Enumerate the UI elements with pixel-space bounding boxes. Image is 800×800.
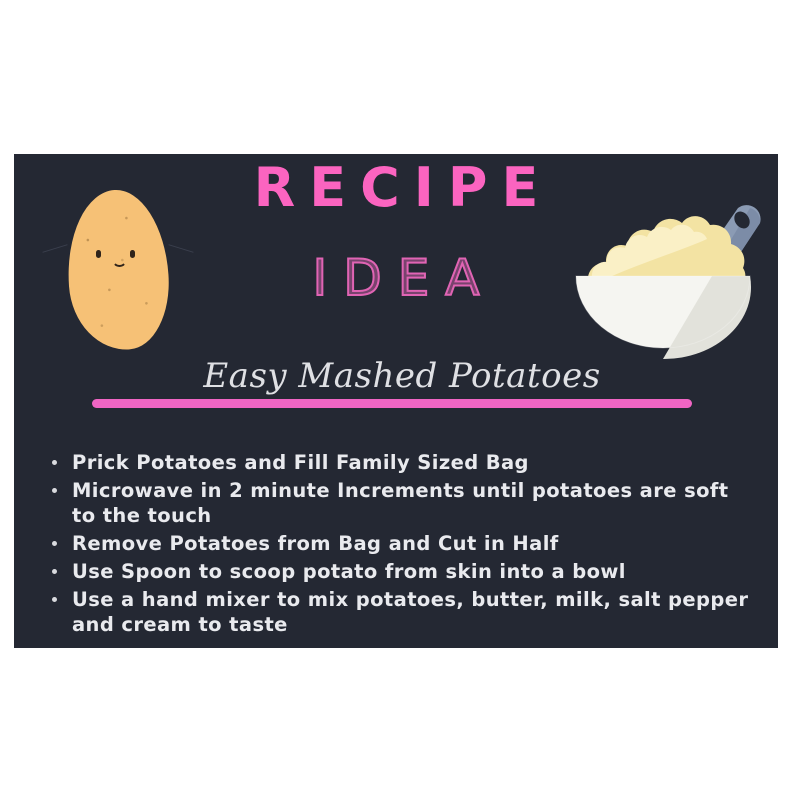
bullet-icon bbox=[52, 460, 57, 465]
potato-arm-left-icon bbox=[42, 244, 67, 253]
bowl-icon bbox=[562, 172, 772, 367]
list-item-label: Microwave in 2 minute Increments until p… bbox=[72, 479, 728, 527]
potato-eye-left-icon bbox=[96, 250, 101, 258]
bullet-icon bbox=[52, 597, 57, 602]
potato-character-illustration bbox=[60, 190, 176, 350]
list-item: Use Spoon to scoop potato from skin into… bbox=[36, 559, 756, 584]
list-item: Remove Potatoes from Bag and Cut in Half bbox=[36, 531, 756, 556]
bowl-body-icon bbox=[576, 276, 751, 359]
list-item-label: Use Spoon to scoop potato from skin into… bbox=[72, 560, 626, 583]
list-item: Microwave in 2 minute Increments until p… bbox=[36, 478, 756, 528]
recipe-card: RECIPE IDEA Easy Mashed Potatoes Prick P… bbox=[14, 154, 778, 648]
screenshot-canvas: RECIPE IDEA Easy Mashed Potatoes Prick P… bbox=[0, 0, 800, 800]
list-item-label: Remove Potatoes from Bag and Cut in Half bbox=[72, 532, 559, 555]
bullet-icon bbox=[52, 569, 57, 574]
list-item: Use a hand mixer to mix potatoes, butter… bbox=[36, 587, 756, 637]
recipe-subtitle: Easy Mashed Potatoes bbox=[92, 356, 712, 396]
potato-body-icon bbox=[63, 187, 174, 354]
list-item-label: Prick Potatoes and Fill Family Sized Bag bbox=[72, 451, 529, 474]
bullet-icon bbox=[52, 488, 57, 493]
potato-eye-right-icon bbox=[130, 250, 135, 258]
list-item-label: Use a hand mixer to mix potatoes, butter… bbox=[72, 588, 748, 636]
divider-line bbox=[92, 399, 692, 408]
list-item: Prick Potatoes and Fill Family Sized Bag bbox=[36, 450, 756, 475]
potato-arm-right-icon bbox=[168, 244, 193, 253]
bullet-icon bbox=[52, 541, 57, 546]
mashed-potato-bowl-illustration bbox=[562, 172, 772, 367]
recipe-steps-list: Prick Potatoes and Fill Family Sized Bag… bbox=[36, 450, 756, 640]
